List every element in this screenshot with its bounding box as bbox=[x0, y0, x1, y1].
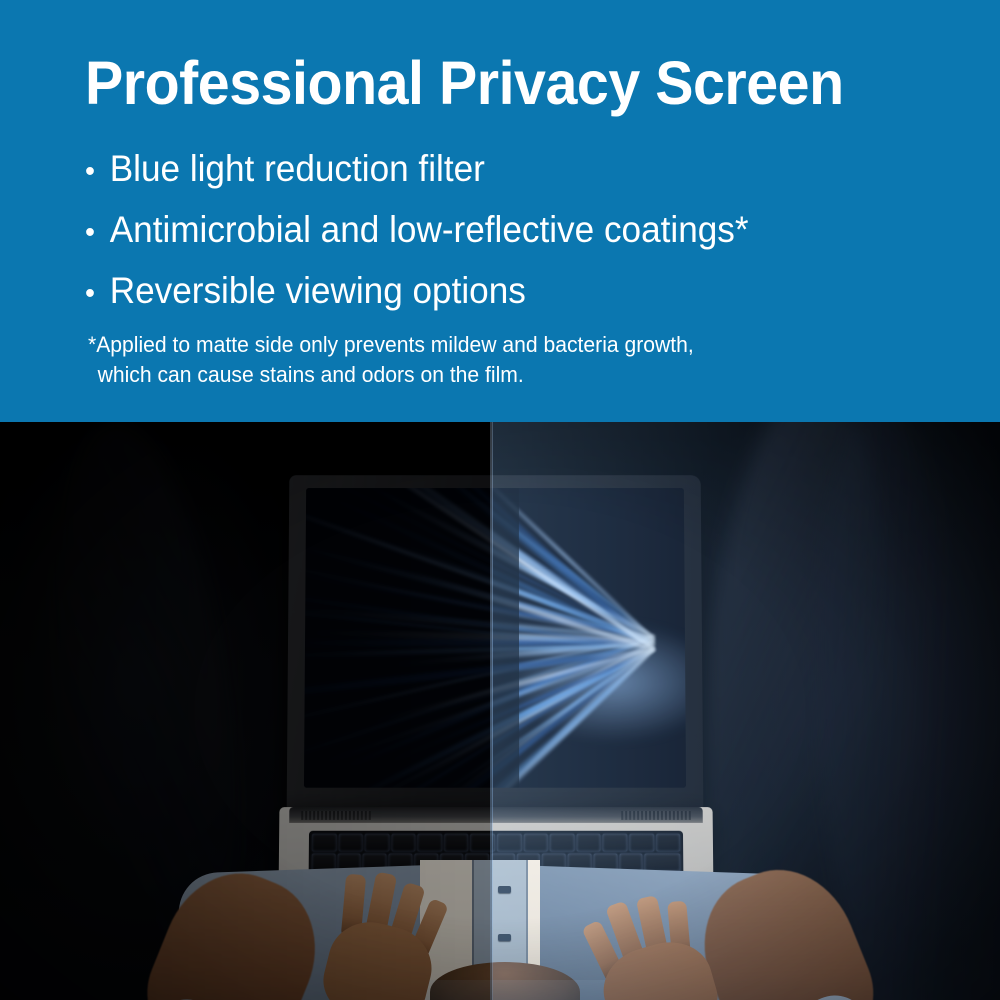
footnote: *Applied to matte side only prevents mil… bbox=[88, 330, 904, 390]
bullet-marker-icon: • bbox=[85, 265, 110, 323]
footnote-line-2: which can cause stains and odors on the … bbox=[88, 360, 904, 390]
list-item: •Antimicrobial and low-reflective coatin… bbox=[85, 201, 921, 262]
list-item: •Reversible viewing options bbox=[85, 262, 921, 323]
footnote-line-1: *Applied to matte side only prevents mil… bbox=[88, 332, 694, 357]
keyboard-row bbox=[312, 834, 680, 852]
feature-list: •Blue light reduction filter •Antimicrob… bbox=[85, 140, 965, 323]
feature-text: Blue light reduction filter bbox=[110, 148, 485, 189]
bullet-marker-icon: • bbox=[85, 204, 110, 262]
screen-wallpaper bbox=[304, 488, 686, 788]
feature-text: Reversible viewing options bbox=[110, 270, 526, 311]
product-feature-image: Professional Privacy Screen •Blue light … bbox=[0, 0, 1000, 1000]
keyboard-key bbox=[338, 834, 363, 852]
keyboard-key bbox=[418, 834, 443, 852]
keyboard-key bbox=[444, 834, 468, 852]
list-item: •Blue light reduction filter bbox=[85, 140, 921, 201]
keyboard-key bbox=[656, 834, 681, 852]
page-title: Professional Privacy Screen bbox=[85, 48, 844, 118]
bullet-marker-icon: • bbox=[85, 143, 110, 201]
keyboard-key bbox=[312, 834, 337, 852]
shirt-button bbox=[498, 934, 511, 941]
keyboard-key bbox=[603, 834, 628, 852]
keyboard-key bbox=[629, 834, 654, 852]
keyboard-key bbox=[497, 834, 521, 852]
keyboard-key bbox=[550, 834, 575, 852]
keyboard-key bbox=[523, 834, 547, 852]
laptop-lid bbox=[287, 475, 704, 815]
keyboard-key bbox=[471, 834, 495, 852]
speaker-grille bbox=[621, 811, 691, 820]
product-photo bbox=[0, 422, 1000, 1000]
keyboard-key bbox=[576, 834, 601, 852]
feature-text: Antimicrobial and low-reflective coating… bbox=[110, 209, 749, 250]
keyboard-key bbox=[365, 834, 390, 852]
laptop-screen bbox=[304, 488, 686, 788]
feature-panel: Professional Privacy Screen •Blue light … bbox=[0, 0, 1000, 422]
speaker-grille bbox=[301, 811, 371, 820]
shirt-button bbox=[498, 886, 511, 893]
keyboard-key bbox=[391, 834, 416, 852]
